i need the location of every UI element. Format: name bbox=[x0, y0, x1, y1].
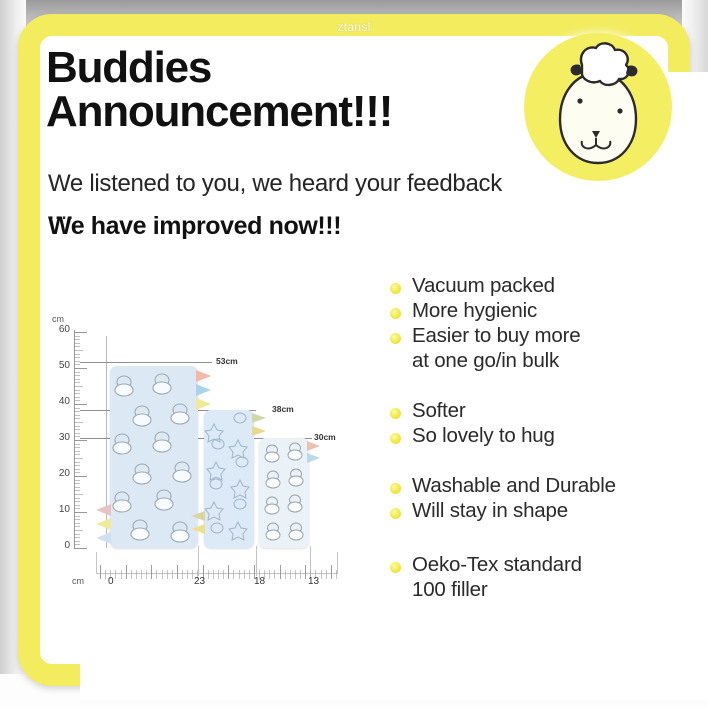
horizontal-ruler: cm 0 23 18 13 bbox=[96, 552, 338, 582]
pillow-tags-left-medium bbox=[191, 510, 206, 544]
measure-guide-53 bbox=[80, 362, 212, 363]
pillow-pattern-sheep bbox=[110, 366, 198, 548]
horizontal-tick-label: 0 bbox=[108, 576, 114, 587]
bullet-dot-icon bbox=[390, 562, 401, 573]
pillow-tags-right-large bbox=[196, 368, 212, 414]
list-item-label: Washable and Durable bbox=[412, 474, 616, 498]
vertical-tick-label: 30 bbox=[50, 432, 70, 443]
size-label-medium: 38cm bbox=[272, 404, 294, 414]
list-item: Softer bbox=[390, 399, 680, 423]
horizontal-tick-label: 23 bbox=[194, 576, 205, 587]
feature-list: Vacuum packed More hygienic Easier to bu… bbox=[390, 274, 680, 628]
list-item-label: Oeko-Tex standard bbox=[412, 553, 582, 577]
list-item-continuation: 100 filler bbox=[412, 578, 680, 602]
large-pillow bbox=[110, 366, 198, 548]
sheep-icon bbox=[536, 39, 660, 175]
list-item: More hygienic bbox=[390, 299, 680, 323]
list-item-label: Easier to buy more bbox=[412, 324, 580, 348]
list-item: So lovely to hug bbox=[390, 424, 680, 448]
size-label-large: 53cm bbox=[216, 356, 238, 366]
vertical-tick-label: 20 bbox=[50, 468, 70, 479]
list-item-label: So lovely to hug bbox=[412, 424, 555, 448]
bullet-dot-icon bbox=[390, 408, 401, 419]
sheep-logo bbox=[524, 33, 672, 181]
feature-group-1: Vacuum packed More hygienic Easier to bu… bbox=[390, 274, 680, 373]
subtitle-bold-text: We have improved now!!! bbox=[48, 212, 518, 241]
vertical-tick-label: 60 bbox=[50, 324, 70, 335]
vertical-axis-unit: cm bbox=[52, 314, 64, 324]
list-item: Vacuum packed bbox=[390, 274, 680, 298]
horizontal-axis-unit: cm bbox=[72, 576, 84, 586]
bullet-dot-icon bbox=[390, 333, 401, 344]
size-chart-diagram: cm 60 50 40 30 20 10 0 bbox=[44, 314, 374, 604]
feature-group-2: Softer So lovely to hug bbox=[390, 399, 680, 448]
list-item-label: Softer bbox=[412, 399, 466, 423]
bullet-dot-icon bbox=[390, 483, 401, 494]
list-item-continuation: at one go/in bulk bbox=[412, 349, 680, 373]
horizontal-tick-label: 18 bbox=[254, 576, 265, 587]
list-item-label: More hygienic bbox=[412, 299, 537, 323]
bullet-dot-icon bbox=[390, 283, 401, 294]
size-label-small: 30cm bbox=[314, 432, 336, 442]
list-item: Oeko-Tex standard bbox=[390, 553, 680, 577]
watermark-text: ztansl bbox=[0, 20, 708, 34]
list-item: Easier to buy more bbox=[390, 324, 680, 348]
vertical-tick-label: 0 bbox=[50, 540, 70, 551]
title-line-1: Buddies bbox=[46, 43, 211, 92]
vertical-tick-label: 50 bbox=[50, 360, 70, 371]
feature-group-3: Washable and Durable Will stay in shape bbox=[390, 474, 680, 523]
vertical-tick-label: 40 bbox=[50, 396, 70, 407]
list-item-label: Vacuum packed bbox=[412, 274, 555, 298]
horizontal-ruler-box bbox=[96, 552, 338, 574]
pillow-tags-right-small bbox=[307, 440, 321, 470]
bullet-dot-icon bbox=[390, 308, 401, 319]
title-line-2: Announcement!!! bbox=[46, 90, 526, 134]
pillow-pattern-bears bbox=[259, 438, 309, 548]
poster-root: ztansl Buddies Announcement!!! We listen… bbox=[0, 0, 708, 708]
horizontal-tick-label: 13 bbox=[308, 576, 319, 587]
bullet-dot-icon bbox=[390, 508, 401, 519]
feature-group-4: Oeko-Tex standard 100 filler bbox=[390, 553, 680, 602]
list-item: Will stay in shape bbox=[390, 499, 680, 523]
bullet-dot-icon bbox=[390, 433, 401, 444]
pillow-pattern-stars bbox=[204, 410, 254, 548]
list-item: Washable and Durable bbox=[390, 474, 680, 498]
medium-pillow bbox=[204, 410, 254, 548]
list-item-label: Will stay in shape bbox=[412, 499, 568, 523]
pillow-tags-left-large bbox=[96, 502, 112, 548]
page-title: Buddies Announcement!!! bbox=[46, 46, 526, 133]
vertical-tick-label: 10 bbox=[50, 504, 70, 515]
small-pillow bbox=[259, 438, 309, 548]
